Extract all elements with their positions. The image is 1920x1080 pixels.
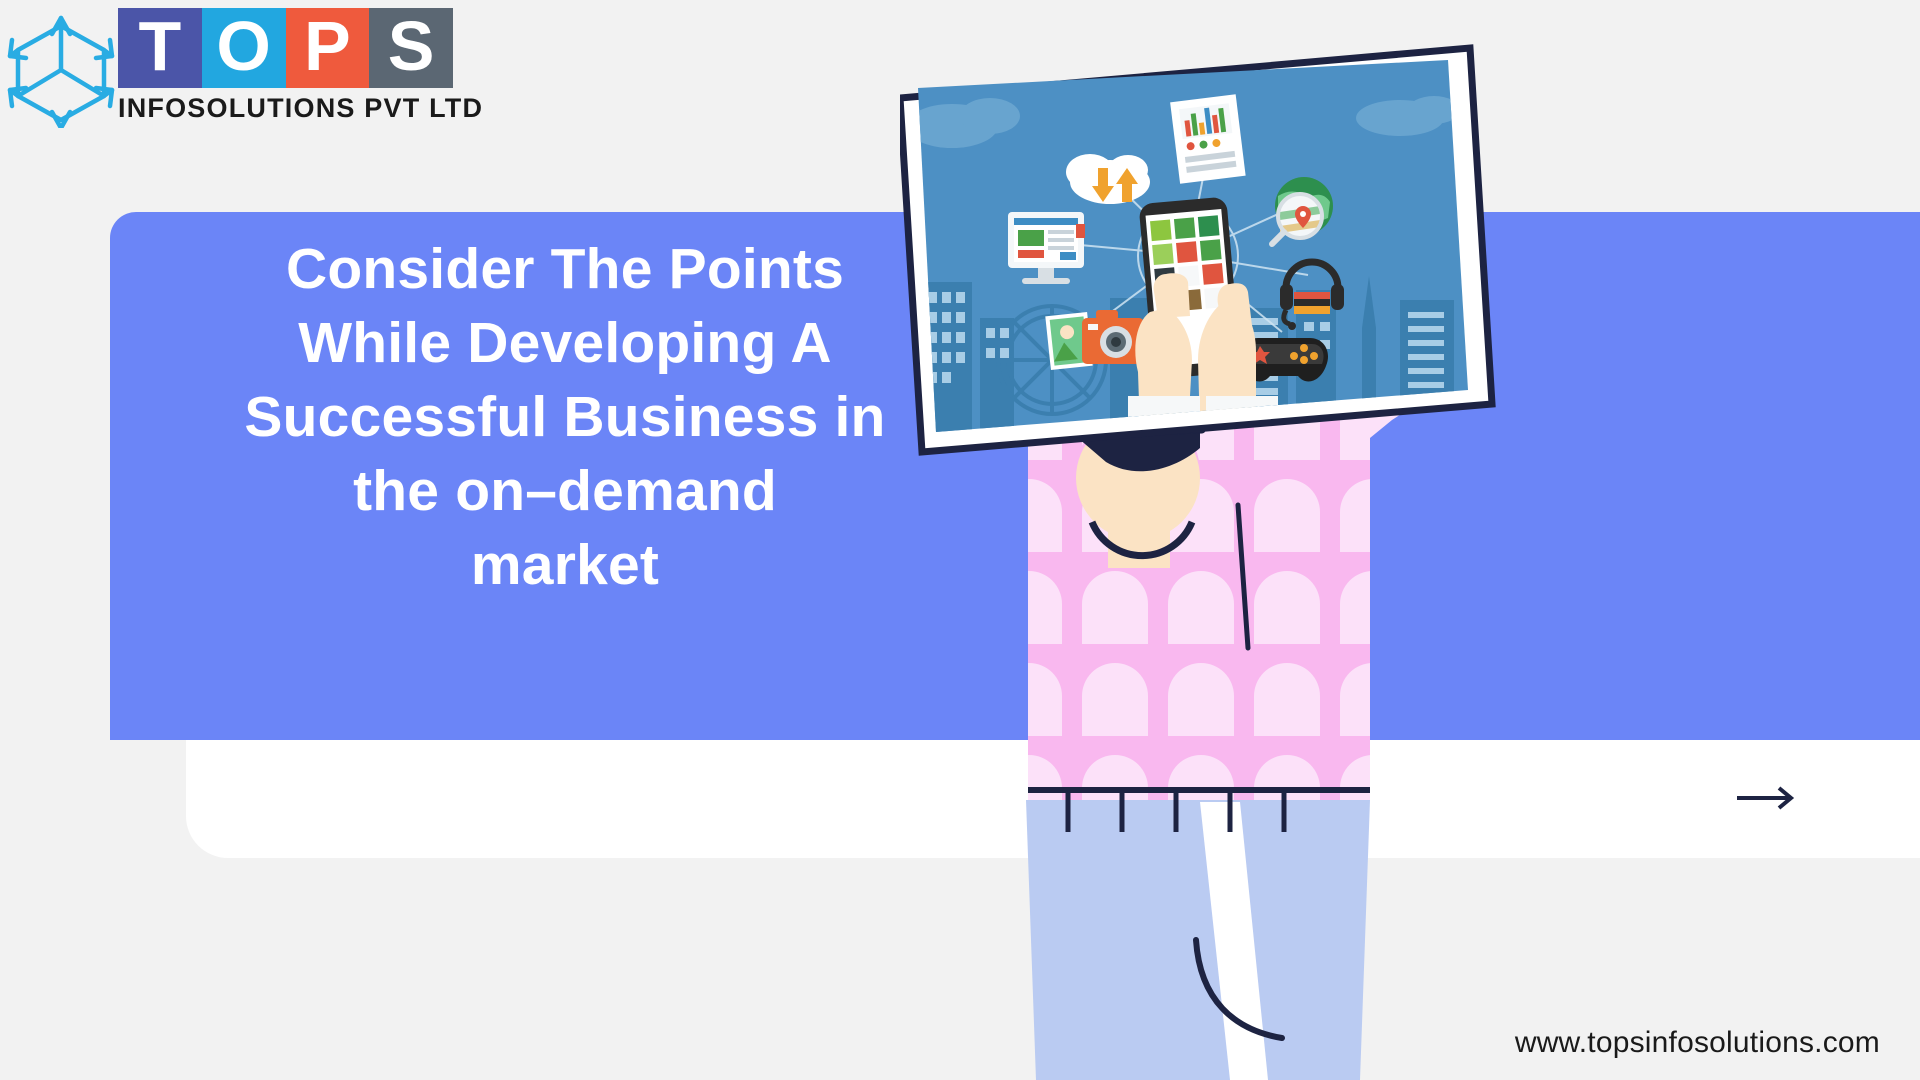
headline-panel: Consider The Points While Developing A S… [110, 212, 1920, 740]
cta-card[interactable] [186, 738, 1920, 858]
arrow-right-icon[interactable] [1736, 785, 1798, 811]
headline-line: Successful Business in [170, 380, 960, 454]
logo-tagline: INFOSOLUTIONS PVT LTD [118, 93, 483, 124]
logo-letter-p: P [286, 8, 370, 88]
page-title: Consider The Points While Developing A S… [170, 232, 960, 602]
brand-logo[interactable]: T O P S INFOSOLUTIONS PVT LTD [6, 0, 476, 140]
headline-line: While Developing A [170, 306, 960, 380]
cube-3d-icon [6, 8, 116, 128]
pants-crease [1196, 940, 1282, 1038]
cloud-sync-icon [1066, 154, 1150, 204]
website-url[interactable]: www.topsinfosolutions.com [1515, 1026, 1880, 1060]
headline-line: market [170, 528, 960, 602]
clouds [906, 96, 1460, 148]
logo-letter-t: T [118, 8, 202, 88]
logo-letter-s: S [369, 8, 453, 88]
headline-line: the on–demand [170, 454, 960, 528]
logo-wordmark: T O P S [118, 8, 453, 88]
headline-line: Consider The Points [170, 232, 960, 306]
chart-document-icon [1170, 94, 1246, 183]
logo-letter-o: O [202, 8, 286, 88]
